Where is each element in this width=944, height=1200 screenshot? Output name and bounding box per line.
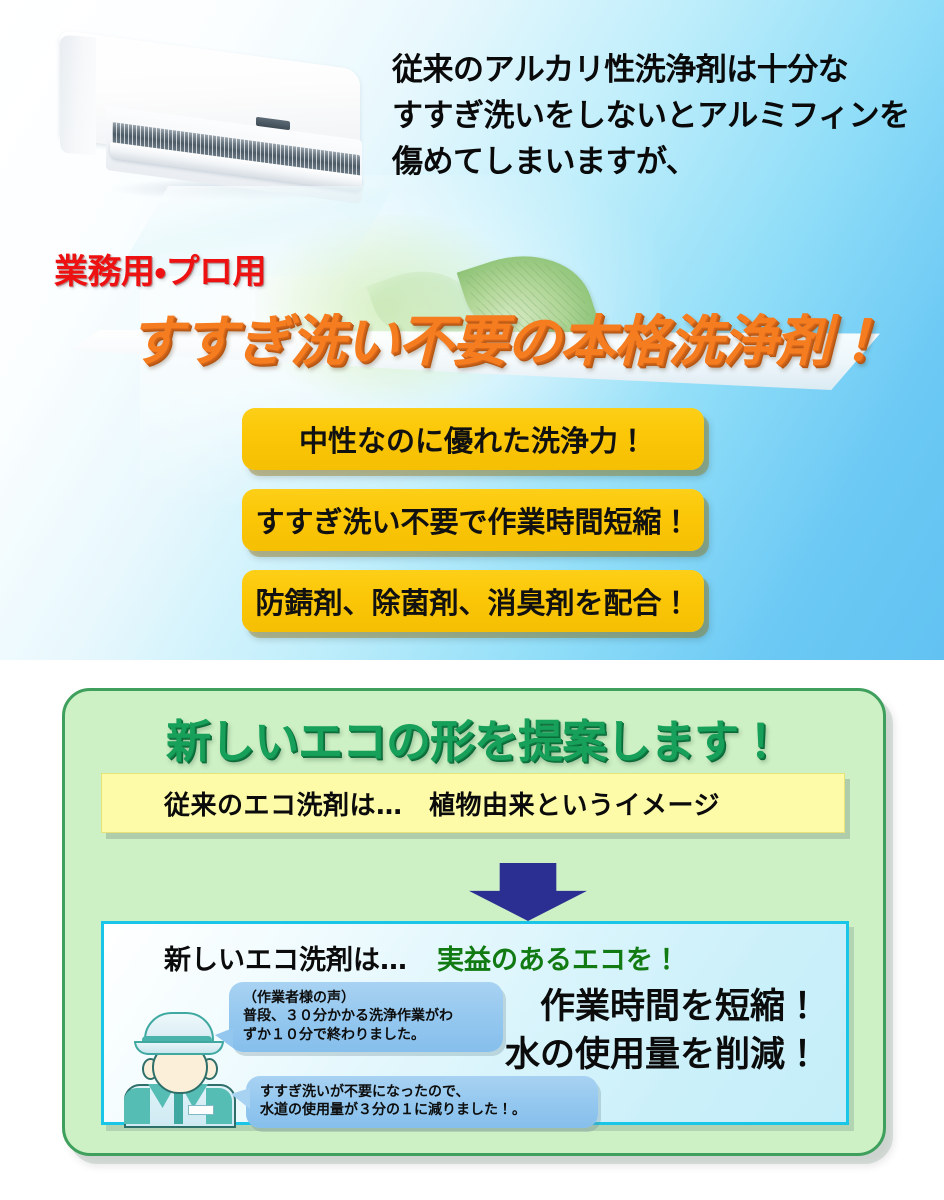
worker-name-badge bbox=[188, 1105, 214, 1115]
old-eco-strip-label: 従来のエコ洗剤は… 植物由来というイメージ bbox=[102, 785, 720, 822]
testimonial-line: ずか１０分で終わりました。 bbox=[243, 1026, 493, 1044]
air-conditioner-side-cap bbox=[60, 35, 96, 156]
air-conditioner-image bbox=[52, 18, 372, 223]
eco-card: 新しいエコの形を提案します！ 従来のエコ洗剤は… 植物由来というイメージ 新しい… bbox=[62, 688, 886, 1156]
testimonial-line: （作業者様の声） bbox=[243, 989, 493, 1007]
testimonial-line: すすぎ洗いが不要になったので、 bbox=[260, 1083, 588, 1101]
feature-pill: 中性なのに優れた洗浄力！ bbox=[242, 408, 704, 470]
intro-line-1: 従来のアルカリ性洗浄剤は十分な bbox=[392, 48, 922, 94]
red-headline: 業務用・プロ用 bbox=[54, 244, 266, 293]
feature-pill: すすぎ洗い不要で作業時間短縮！ bbox=[242, 489, 704, 551]
old-eco-strip: 従来のエコ洗剤は… 植物由来というイメージ bbox=[101, 773, 845, 833]
testimonial-line: 水道の使用量が３分の１に減りました！。 bbox=[260, 1101, 588, 1119]
benefit-text: 作業時間を短縮！ bbox=[540, 978, 820, 1029]
down-arrow-shape bbox=[469, 863, 587, 921]
testimonial-bubble-text: すすぎ洗いが不要になったので、 水道の使用量が３分の１に減りました！。 bbox=[246, 1076, 598, 1128]
testimonial-bubble-text: （作業者様の声） 普段、３０分かかる洗浄作業がわ ずか１０分で終わりました。 bbox=[229, 982, 503, 1052]
new-eco-box: 新しいエコ洗剤は…実益のあるエコを！ 作業時間を短縮！ 水の使用量を削減！ bbox=[101, 921, 849, 1125]
bottom-eco-panel: 新しいエコの形を提案します！ 従来のエコ洗剤は… 植物由来というイメージ 新しい… bbox=[0, 660, 944, 1200]
feature-pill-label: すすぎ洗い不要で作業時間短縮！ bbox=[255, 499, 690, 541]
top-promo-panel: 従来のアルカリ性洗浄剤は十分な すすぎ洗いをしないとアルミフィンを 傷めてしまい… bbox=[0, 0, 944, 660]
worker-avatar bbox=[122, 1010, 234, 1118]
testimonial-bubble: （作業者様の声） 普段、３０分かかる洗浄作業がわ ずか１０分で終わりました。 bbox=[229, 982, 503, 1052]
new-eco-heading: 新しいエコ洗剤は…実益のあるエコを！ bbox=[164, 938, 680, 977]
feature-pill-label: 中性なのに優れた洗浄力！ bbox=[299, 418, 647, 460]
down-arrow-icon bbox=[469, 863, 587, 921]
intro-line-2: すすぎ洗いをしないとアルミフィンを bbox=[392, 94, 922, 140]
air-conditioner-body bbox=[60, 30, 360, 180]
benefit-text: 水の使用量を削減！ bbox=[505, 1026, 820, 1077]
worker-cap-brim bbox=[134, 1041, 224, 1055]
new-eco-label: 新しいエコ洗剤は… bbox=[164, 945, 407, 976]
testimonial-bubble: すすぎ洗いが不要になったので、 水道の使用量が３分の１に減りました！。 bbox=[246, 1076, 598, 1128]
intro-paragraph: 従来のアルカリ性洗浄剤は十分な すすぎ洗いをしないとアルミフィンを 傷めてしまい… bbox=[392, 48, 922, 186]
feature-pill-label: 防錆剤、除菌剤、消臭剤を配合！ bbox=[255, 580, 690, 622]
advertisement-page: 従来のアルカリ性洗浄剤は十分な すすぎ洗いをしないとアルミフィンを 傷めてしまい… bbox=[0, 0, 944, 1200]
eco-card-title: 新しいエコの形を提案します！ bbox=[65, 705, 883, 770]
new-eco-accent: 実益のあるエコを！ bbox=[407, 945, 680, 976]
testimonial-line: 普段、３０分かかる洗浄作業がわ bbox=[243, 1007, 493, 1025]
feature-pill: 防錆剤、除菌剤、消臭剤を配合！ bbox=[242, 570, 704, 632]
orange-headline: すすぎ洗い不要の本格洗浄剤！ bbox=[128, 296, 884, 376]
worker-shoulder-left bbox=[124, 1088, 150, 1124]
intro-line-3: 傷めてしまいますが、 bbox=[392, 140, 922, 186]
